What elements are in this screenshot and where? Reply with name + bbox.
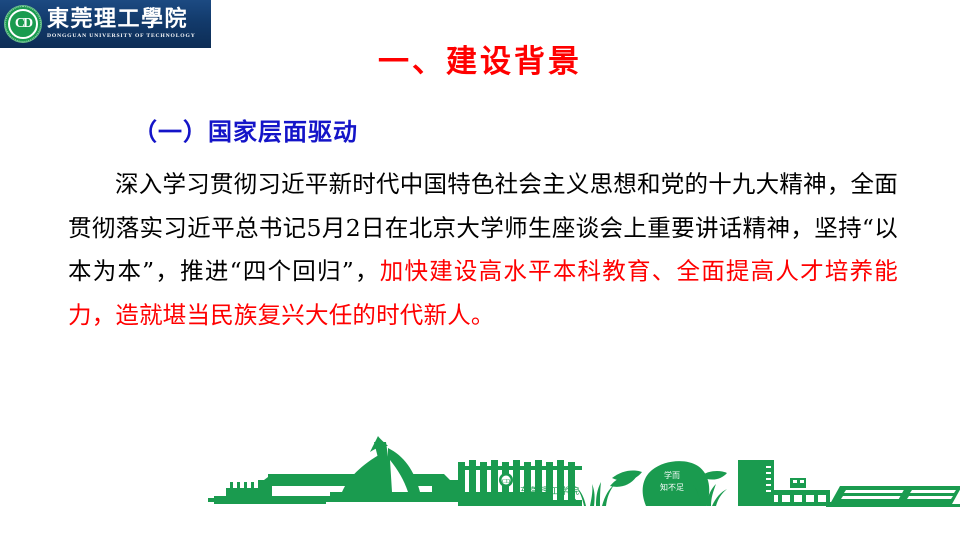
body-paragraph: 深入学习贯彻习近平新时代中国特色社会主义思想和党的十九大精神，全面贯彻落实习近平… bbox=[68, 163, 898, 337]
section-subtitle: （一）国家层面驱动 bbox=[133, 112, 358, 147]
paragraph-line: 深入学习贯彻习近平新时代中国特色社会主义思想和党的十九大精神，全面贯彻落实习近平… bbox=[68, 163, 898, 337]
svg-text:东莞理工学院: 东莞理工学院 bbox=[520, 485, 580, 497]
svg-text:CD: CD bbox=[502, 479, 511, 485]
campus-skyline-decoration: CD 东莞理工学院 学而 知不足 bbox=[0, 430, 960, 540]
svg-text:知不足: 知不足 bbox=[660, 482, 684, 492]
university-name-cn: 東莞理工學院 bbox=[47, 8, 211, 31]
slide-canvas: CD 東莞理工學院 DONGGUAN UNIVERSITY OF TECHNOL… bbox=[0, 0, 960, 540]
page-title: 一、建设背景 bbox=[0, 36, 960, 81]
svg-text:学而: 学而 bbox=[664, 470, 680, 480]
